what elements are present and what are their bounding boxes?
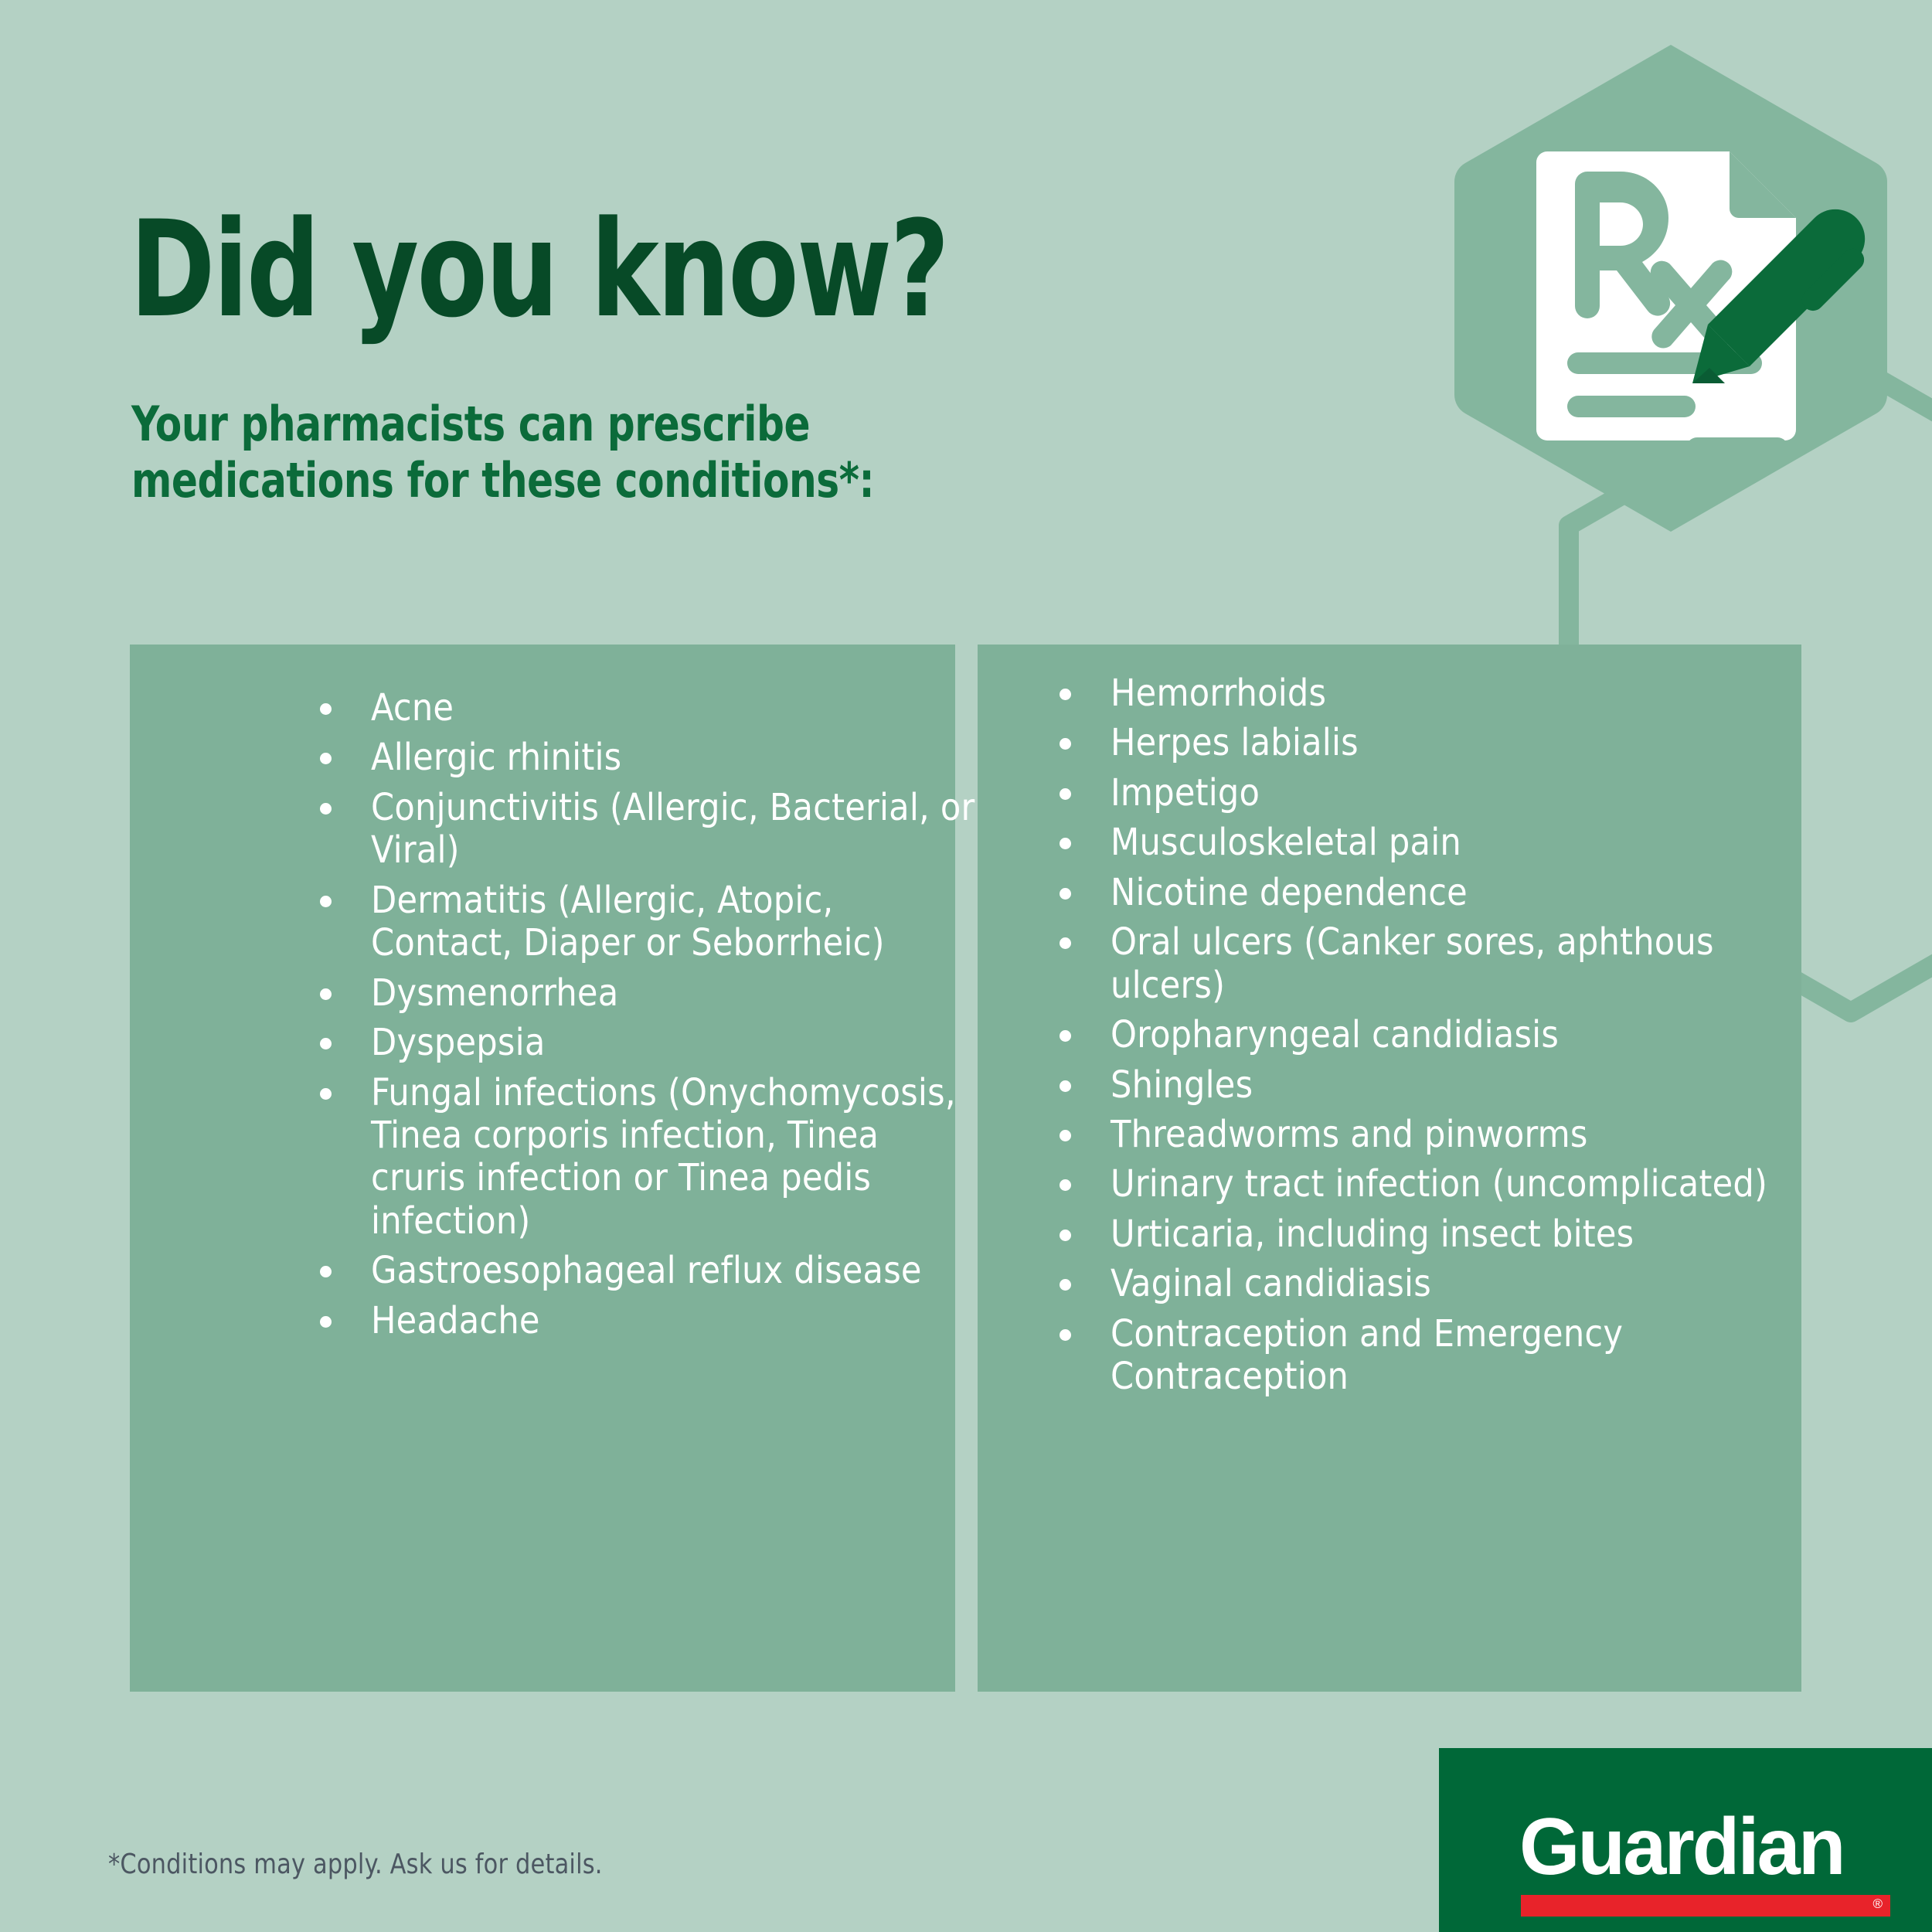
list-item: Hemorrhoids (1055, 672, 1774, 715)
list-item: Urinary tract infection (uncomplicated) (1055, 1163, 1774, 1206)
prescription-badge (1447, 39, 1895, 538)
subtitle-line-1: Your pharmacists can prescribe (131, 396, 874, 452)
guardian-logo: Guardian ® (1439, 1748, 1932, 1932)
list-item: Nicotine dependence (1055, 872, 1774, 914)
conditions-panel-right: Hemorrhoids Herpes labialis Impetigo Mus… (978, 645, 1801, 1692)
list-item: Dysmenorrhea (315, 972, 980, 1015)
registered-trademark-icon: ® (1872, 1897, 1883, 1910)
list-item: Allergic rhinitis (315, 736, 980, 779)
list-item: Impetigo (1055, 772, 1774, 815)
list-item: Fungal infections (Onychomycosis, Tinea … (315, 1072, 980, 1243)
infographic-canvas: Did you know? Your pharmacists can presc… (0, 0, 1932, 1932)
list-item: Vaginal candidiasis (1055, 1263, 1774, 1305)
conditions-list-right: Hemorrhoids Herpes labialis Impetigo Mus… (1055, 672, 1774, 1406)
list-item: Oral ulcers (Canker sores, aphthous ulce… (1055, 921, 1774, 1007)
prescription-document-with-pen-icon (1447, 39, 1895, 538)
list-item: Conjunctivitis (Allergic, Bacterial, or … (315, 787, 980, 872)
guardian-wordmark: Guardian (1519, 1807, 1844, 1887)
list-item: Shingles (1055, 1064, 1774, 1107)
list-item: Acne (315, 687, 980, 730)
guardian-logo-bar: ® (1521, 1895, 1890, 1917)
subtitle-line-2: medications for these conditions*: (131, 452, 874, 509)
conditions-list-left: Acne Allergic rhinitis Conjunctivitis (A… (315, 687, 980, 1349)
footnote-disclaimer: *Conditions may apply. Ask us for detail… (108, 1849, 603, 1880)
list-item: Musculoskeletal pain (1055, 821, 1774, 864)
list-item: Herpes labialis (1055, 722, 1774, 764)
subtitle: Your pharmacists can prescribe medicatio… (131, 396, 874, 509)
list-item: Threadworms and pinworms (1055, 1114, 1774, 1156)
list-item: Dermatitis (Allergic, Atopic, Contact, D… (315, 879, 980, 965)
page-title: Did you know? (130, 203, 947, 336)
conditions-panel-left: Acne Allergic rhinitis Conjunctivitis (A… (130, 645, 955, 1692)
list-item: Oropharyngeal candidiasis (1055, 1014, 1774, 1056)
list-item: Urticaria, including insect bites (1055, 1213, 1774, 1256)
list-item: Headache (315, 1300, 980, 1342)
list-item: Dyspepsia (315, 1022, 980, 1064)
list-item: Contraception and Emergency Contraceptio… (1055, 1313, 1774, 1399)
list-item: Gastroesophageal reflux disease (315, 1250, 980, 1292)
